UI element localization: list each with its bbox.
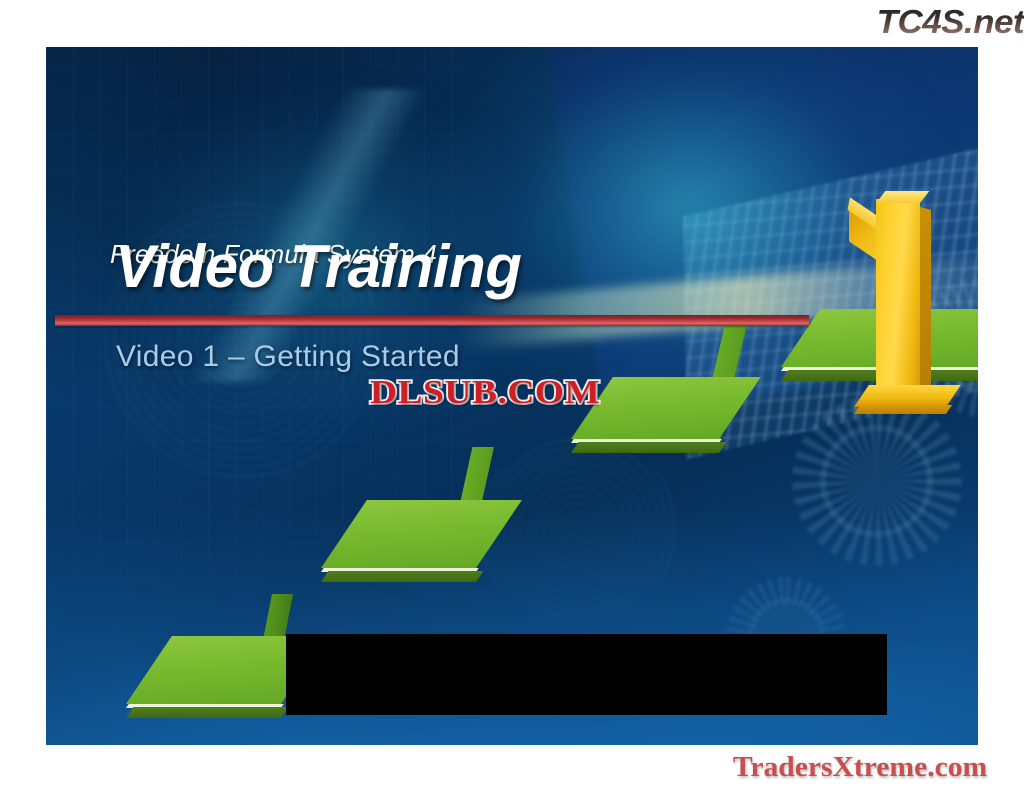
dlsub-watermark: DLSUB.COM xyxy=(370,374,600,412)
numeral-one-base xyxy=(854,385,961,407)
red-divider-rule xyxy=(55,315,809,326)
gold-numeral-one-icon xyxy=(836,189,956,417)
numeral-one-stem xyxy=(876,199,920,395)
stair-step-1-front xyxy=(126,707,288,718)
numeral-one-base-front xyxy=(854,405,952,414)
numeral-one-top-face xyxy=(876,191,929,203)
numeral-one-side-face xyxy=(920,207,931,398)
stair-step-2-top xyxy=(321,500,522,568)
presentation-slide: Freedom Formula System 4 Video Training … xyxy=(46,47,978,745)
page-title: Video Training xyxy=(115,232,521,301)
stair-step-2 xyxy=(321,500,476,568)
redaction-bar xyxy=(286,634,887,715)
tc4s-logo: TC4S.net xyxy=(816,2,1024,42)
stair-step-2-front xyxy=(321,571,483,582)
slide-subtitle-text: Video 1 – Getting Started xyxy=(116,340,460,374)
slide-page: TC4S.net xyxy=(0,0,1024,791)
stair-step-1 xyxy=(126,636,281,704)
tradersxtreme-logo: TradersXtreme.com xyxy=(701,750,1019,784)
stair-step-3-front xyxy=(571,442,726,453)
